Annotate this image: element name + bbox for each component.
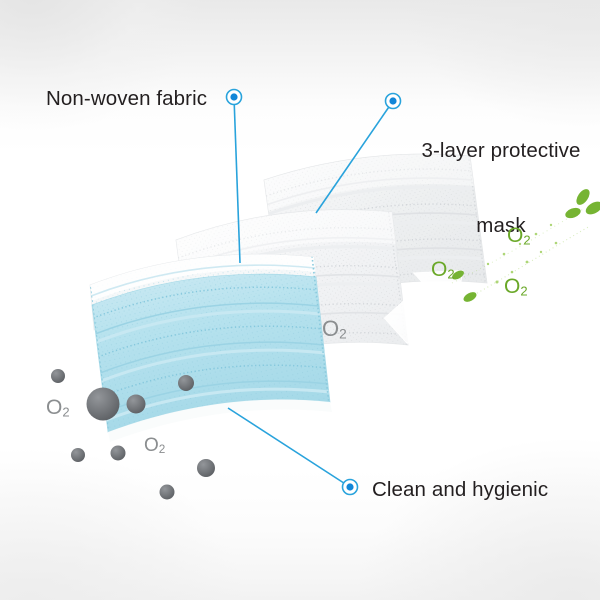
callout-line [228,408,350,487]
o2-symbol: O [504,275,520,298]
callout-dot-core [389,97,396,104]
o2-subscript: 2 [159,443,166,456]
o2-subscript: 2 [520,283,527,298]
o2-subscript: 2 [447,266,454,281]
particle-3 [127,395,146,414]
o2-gray-middle: O2 [322,316,347,342]
diagram-canvas: Non-woven fabric 3-layer protective mask… [0,0,600,600]
callout-clean-and-hygienic[interactable] [228,408,358,495]
o2-green-upper: O2 [507,224,531,248]
callout-label-non-woven-fabric: Non-woven fabric [46,86,207,111]
o2-subscript: 2 [523,232,530,247]
callout-dot-core [346,483,353,490]
callout-label-clean-and-hygienic: Clean and hygienic [372,477,548,502]
o2-symbol: O [431,258,447,281]
mask-layer-front [80,245,345,442]
o2-symbol: O [507,224,523,247]
o2-symbol: O [144,435,159,456]
o2-symbol: O [322,316,339,341]
o2-subscript: 2 [339,326,347,341]
particle-1 [51,369,65,383]
o2-green-mid: O2 [431,258,455,282]
callout-label-line1: 3-layer protective [414,138,588,163]
o2-gray-left: O2 [46,396,70,420]
particle-8 [160,485,175,500]
particle-7 [197,459,215,477]
particle-2 [87,388,120,421]
callout-dot-core [230,93,237,100]
o2-gray-lower: O2 [144,435,165,457]
o2-subscript: 2 [62,404,69,419]
o2-green-lower: O2 [504,275,528,299]
o2-symbol: O [46,396,62,419]
particle-4 [178,375,194,391]
particle-5 [71,448,85,462]
particle-6 [111,446,126,461]
callout-label-line2: mask [414,213,588,238]
